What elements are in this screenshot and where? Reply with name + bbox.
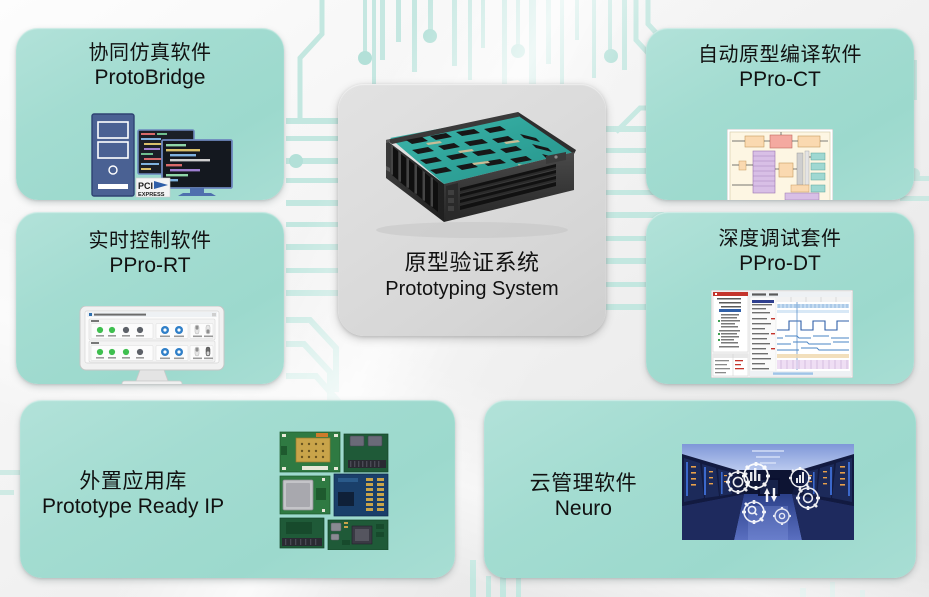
block-diagram-thumbnail-icon xyxy=(727,129,833,200)
card-ppro-ct[interactable]: 自动原型编译软件 PPro-CT xyxy=(646,28,914,200)
card-neuro-title: 云管理软件 Neuro xyxy=(484,472,683,521)
card-neuro[interactable]: 云管理软件 Neuro xyxy=(484,400,916,578)
card-prototyping-system[interactable]: 原型验证系统 Prototyping System xyxy=(338,84,606,336)
card-ppro-dt-title-en: PPro-DT xyxy=(646,252,914,276)
card-ppro-rt-title: 实时控制软件 PPro-RT xyxy=(16,230,284,278)
waveform-debugger-thumbnail-icon xyxy=(711,290,853,378)
card-prototyping-system-title: 原型验证系统 Prototyping System xyxy=(338,250,606,301)
svg-text:PCI: PCI xyxy=(138,181,153,191)
card-ppro-ct-title: 自动原型编译软件 PPro-CT xyxy=(646,44,914,92)
card-ppro-dt-title: 深度调试套件 PPro-DT xyxy=(646,228,914,276)
card-ppro-ct-title-cn: 自动原型编译软件 xyxy=(646,44,914,67)
pci-express-badge: PCI EXPRESS xyxy=(136,178,170,198)
card-neuro-title-en: Neuro xyxy=(484,497,683,521)
card-ppro-rt[interactable]: 实时控制软件 PPro-RT xyxy=(16,212,284,384)
card-prototype-ready-ip-title: 外置应用库 Prototype Ready IP xyxy=(20,470,246,519)
card-protobridge-title: 协同仿真软件 ProtoBridge xyxy=(16,42,284,90)
card-protobridge-title-en: ProtoBridge xyxy=(16,66,284,90)
daughter-card-collage-icon xyxy=(278,430,390,550)
card-prototype-ready-ip-title-cn: 外置应用库 xyxy=(20,470,246,494)
card-prototype-ready-ip[interactable]: 外置应用库 Prototype Ready IP xyxy=(20,400,455,578)
card-ppro-ct-title-en: PPro-CT xyxy=(646,68,914,92)
card-prototyping-system-title-cn: 原型验证系统 xyxy=(338,250,606,275)
card-prototype-ready-ip-title-en: Prototype Ready IP xyxy=(20,495,246,519)
card-neuro-title-cn: 云管理软件 xyxy=(484,472,683,496)
card-ppro-dt-title-cn: 深度调试套件 xyxy=(646,228,914,251)
card-ppro-dt[interactable]: 深度调试套件 PPro-DT xyxy=(646,212,914,384)
card-ppro-rt-title-cn: 实时控制软件 xyxy=(16,230,284,253)
diagram-canvas: 协同仿真软件 ProtoBridge xyxy=(0,0,929,597)
monitor-control-panel-icon xyxy=(78,306,226,384)
card-protobridge[interactable]: 协同仿真软件 ProtoBridge xyxy=(16,28,284,200)
datacenter-gears-photo-icon xyxy=(682,444,854,540)
workstation-and-code-editor-icon: PCI EXPRESS xyxy=(78,110,238,198)
card-ppro-rt-title-en: PPro-RT xyxy=(16,254,284,278)
card-prototyping-system-title-en: Prototyping System xyxy=(338,278,606,301)
card-protobridge-title-cn: 协同仿真软件 xyxy=(16,42,284,65)
rackmount-chassis-icon xyxy=(360,106,584,238)
svg-text:EXPRESS: EXPRESS xyxy=(138,192,165,198)
